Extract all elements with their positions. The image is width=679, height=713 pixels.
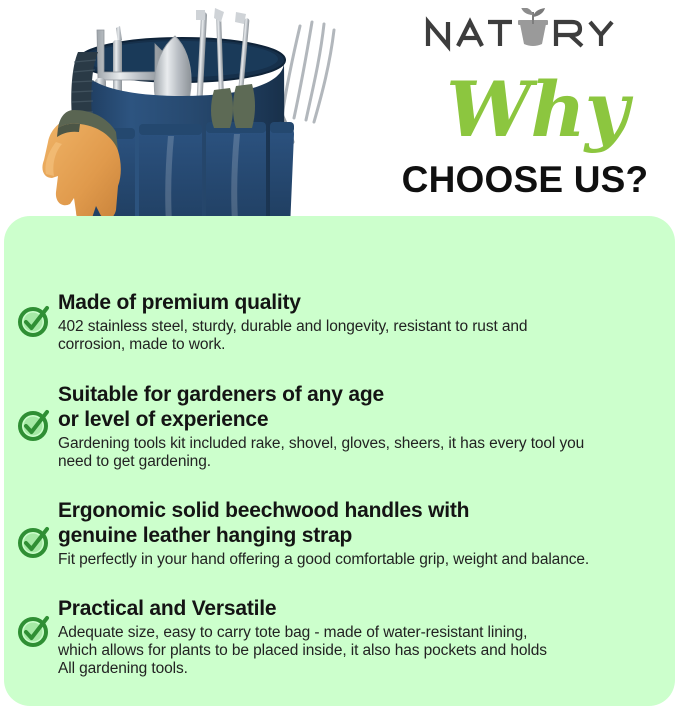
- feature-body: Ergonomic solid beechwood handles with g…: [58, 498, 679, 569]
- feature-item: Ergonomic solid beechwood handles with g…: [0, 498, 679, 569]
- feature-body: Suitable for gardeners of any age or lev…: [58, 382, 679, 471]
- feature-body: Made of premium quality 402 stainless st…: [58, 290, 679, 354]
- choose-us-headline: CHOOSE US?: [380, 158, 670, 202]
- feature-description: Gardening tools kit included rake, shove…: [58, 435, 665, 471]
- potted-plant-icon: [518, 8, 548, 46]
- feature-item: Practical and Versatile Adequate size, e…: [0, 596, 679, 678]
- feature-description: Adequate size, easy to carry tote bag - …: [58, 624, 665, 678]
- feature-title: Suitable for gardeners of any age or lev…: [58, 382, 665, 432]
- green-check-circle-icon: [16, 302, 52, 338]
- feature-title: Ergonomic solid beechwood handles with g…: [58, 498, 665, 548]
- feature-title: Practical and Versatile: [58, 596, 665, 621]
- green-check-circle-icon: [16, 523, 52, 559]
- feature-item: Made of premium quality 402 stainless st…: [0, 290, 679, 354]
- feature-body: Practical and Versatile Adequate size, e…: [58, 596, 679, 678]
- brand-logo: [420, 8, 620, 52]
- feature-description: 402 stainless steel, sturdy, durable and…: [58, 318, 665, 354]
- feature-description: Fit perfectly in your hand offering a go…: [58, 551, 665, 569]
- why-script-text: Why: [404, 56, 670, 166]
- green-check-circle-icon: [16, 406, 52, 442]
- feature-item: Suitable for gardeners of any age or lev…: [0, 382, 679, 471]
- green-check-circle-icon: [16, 612, 52, 648]
- feature-title: Made of premium quality: [58, 290, 665, 315]
